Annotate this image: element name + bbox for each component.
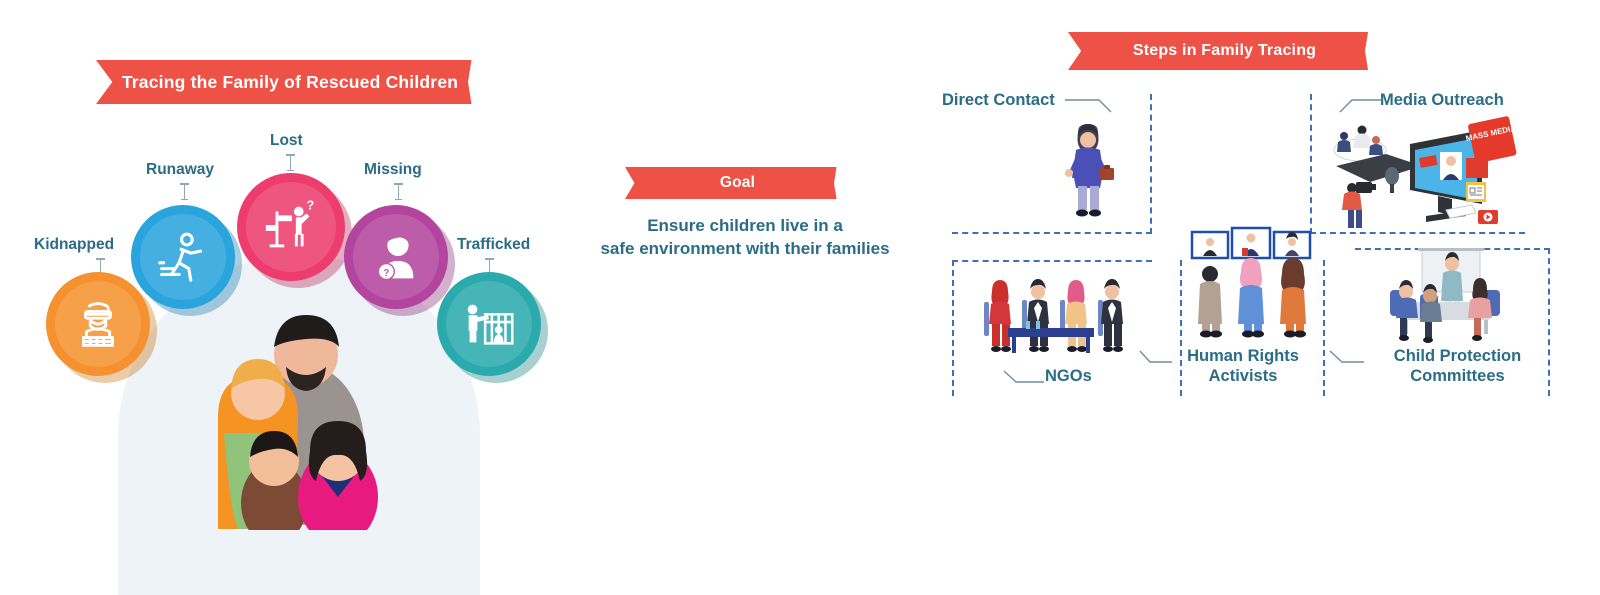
node-lost[interactable]: ? xyxy=(237,173,345,281)
video-conference-activists-illustration xyxy=(1176,226,1331,344)
leader-line-direct-contact xyxy=(1065,96,1113,114)
connector-tick-runaway xyxy=(184,183,185,200)
left-panel-cluster: Kidnapped Runaway xyxy=(0,120,580,409)
node-kidnapped[interactable] xyxy=(46,272,150,376)
node-trafficked[interactable] xyxy=(437,272,541,376)
steps-grid: Direct Contact Media Outreach xyxy=(940,88,1560,403)
step-label-direct-contact: Direct Contact xyxy=(942,90,1055,110)
cpc-label-line-2: Committees xyxy=(1365,366,1550,386)
step-label-media-outreach: Media Outreach xyxy=(1380,90,1504,110)
step-label-human-rights-activists: Human Rights Activists xyxy=(1168,346,1318,386)
leader-line-child-protection-committees xyxy=(1328,350,1364,366)
goal-text-line-1: Ensure children live in a xyxy=(600,214,890,237)
node-label-runaway: Runaway xyxy=(146,161,214,179)
hra-label-line-2: Activists xyxy=(1168,366,1318,386)
left-panel-banner: Tracing the Family of Rescued Children xyxy=(96,60,484,104)
hra-label-line-1: Human Rights xyxy=(1168,346,1318,366)
node-label-missing: Missing xyxy=(364,161,422,179)
node-label-trafficked: Trafficked xyxy=(457,236,530,254)
leader-line-media-outreach xyxy=(1338,96,1382,114)
node-label-kidnapped: Kidnapped xyxy=(34,236,114,254)
goal-text-line-2: safe environment with their families xyxy=(600,237,890,260)
leader-line-human-rights-activists xyxy=(1138,350,1172,366)
cpc-label-line-1: Child Protection xyxy=(1365,346,1550,366)
right-panel-banner: Steps in Family Tracing xyxy=(1068,32,1381,70)
goal-banner: Goal xyxy=(625,167,850,199)
node-runaway[interactable] xyxy=(131,205,235,309)
social-worker-with-briefcase-illustration xyxy=(1060,124,1116,220)
committee-meeting-illustration xyxy=(1370,248,1520,346)
step-label-child-protection-committees: Child Protection Committees xyxy=(1365,346,1550,386)
family-illustration xyxy=(188,285,418,530)
node-missing[interactable]: ? xyxy=(344,205,448,309)
panel-discussion-illustration xyxy=(978,278,1126,362)
step-cell-direct-contact xyxy=(952,94,1152,234)
node-label-lost: Lost xyxy=(270,132,303,150)
connector-tick-missing xyxy=(398,183,399,200)
tv-mass-media-illustration: MASS MEDIA xyxy=(1318,114,1518,232)
step-label-ngos: NGOs xyxy=(1045,366,1092,386)
goal-text: Ensure children live in a safe environme… xyxy=(600,214,890,261)
connector-tick-lost xyxy=(290,154,291,171)
leader-line-ngos xyxy=(1002,370,1044,386)
